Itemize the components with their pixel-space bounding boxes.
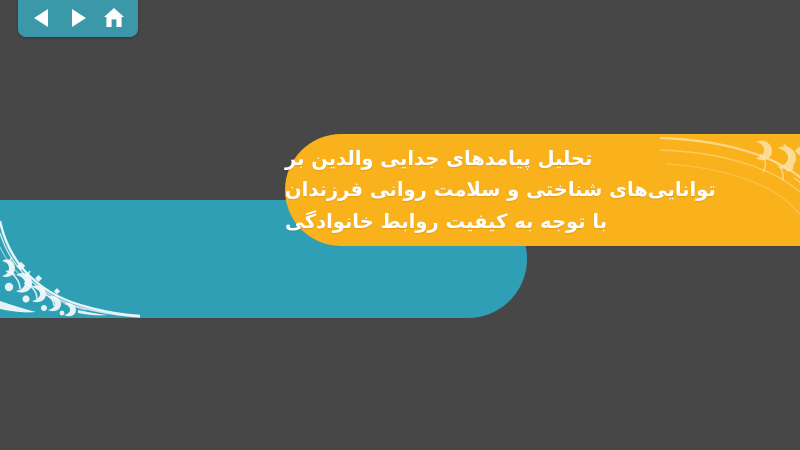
forward-arrow-icon xyxy=(69,8,87,28)
orange-arabesque-ornament-icon xyxy=(660,134,800,246)
forward-button[interactable] xyxy=(63,5,93,31)
orange-title-banner xyxy=(285,134,800,246)
home-icon xyxy=(103,7,125,29)
presentation-slide: تحلیل پیامدهای جدایی والدین بر توانایی‌ه… xyxy=(0,0,800,450)
teal-arabesque-ornament-icon xyxy=(0,213,140,318)
navigation-bar xyxy=(18,0,138,37)
back-button[interactable] xyxy=(27,5,57,31)
back-arrow-icon xyxy=(33,8,51,28)
home-button[interactable] xyxy=(99,5,129,31)
